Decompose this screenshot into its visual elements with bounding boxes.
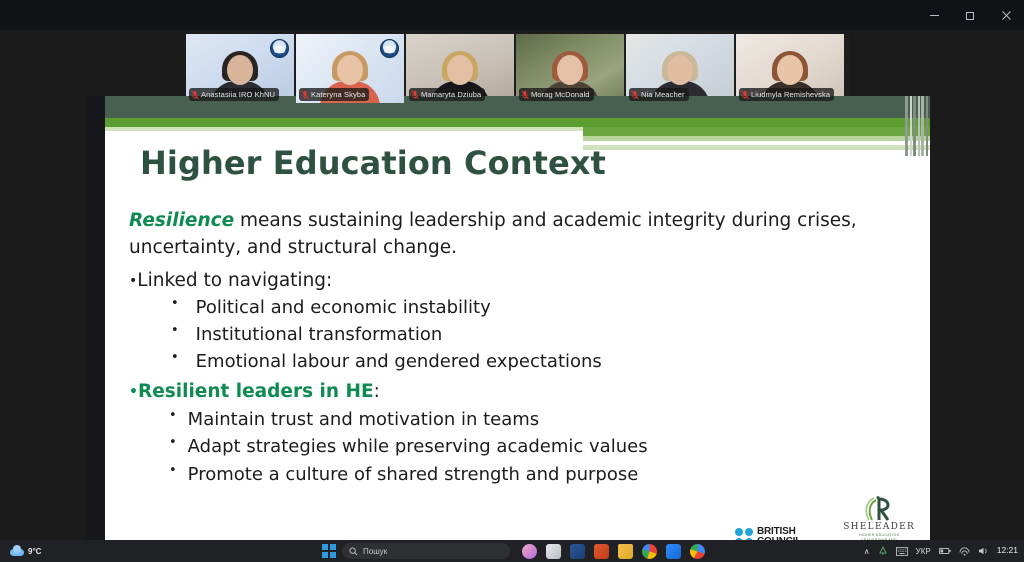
slide-deco-bar-5 [583,145,930,150]
bullet-dot-icon: • [129,384,138,400]
list-item: • Political and economic instability [171,294,889,321]
google-chrome-2-icon[interactable] [690,544,705,559]
weather-widget[interactable]: 9°C [0,546,200,556]
participant-name: Nia Meacher [641,90,685,99]
zoom-icon[interactable] [666,544,681,559]
slide-header-green-band [105,118,930,127]
mic-muted-icon [301,90,309,100]
participant-name: Liudmyla Remishevska [751,90,830,99]
taskbar-app-icons[interactable] [522,544,705,559]
cloud-icon [10,546,24,556]
search-placeholder: Пошук [363,547,387,556]
participant-name: Anastasiia IRO KhNU [201,90,275,99]
participant-tile[interactable]: Anastasiia IRO KhNU [186,34,294,103]
mic-muted-icon [631,90,639,100]
paint-3d-icon[interactable] [522,544,537,559]
mic-muted-icon [191,90,199,100]
keyword-resilience: Resilience [129,210,234,231]
battery-icon[interactable] [939,546,951,556]
search-icon [349,547,358,556]
onedrive-icon[interactable] [878,546,888,557]
list-item-label: Emotional labour and gendered expectatio… [196,348,602,375]
lead-paragraph: Resilience means sustaining leadership a… [129,208,889,262]
close-icon[interactable] [988,1,1024,29]
list-item: • Promote a culture of shared strength a… [169,461,889,488]
sheleader-subtitle: HIGHER EDUCATION LEADERSHIP AND RESILIEN… [835,533,923,540]
start-button-icon[interactable] [322,544,336,558]
participant-name: Mamaryta Dziuba [421,90,481,99]
list-item-label: Political and economic instability [196,294,491,321]
list-item: • Emotional labour and gendered expectat… [171,348,889,375]
taskbar-center: Пошук [322,543,705,559]
participant-tile[interactable]: Kateryna Skyba [296,34,404,103]
participant-tile[interactable]: Nia Meacher [626,34,734,103]
participant-name-bar: Kateryna Skyba [299,88,369,101]
sub-bullet-dot-icon: • [169,406,177,433]
list-item: • Institutional transformation [171,321,889,348]
file-explorer-icon[interactable] [546,544,561,559]
slide-body: Resilience means sustaining leadership a… [129,208,889,488]
participant-name-bar: Anastasiia IRO KhNU [189,88,279,101]
clock-time: 12:21 [997,546,1018,556]
university-emblem-icon [380,39,399,58]
shared-screen-area: Higher Education Context Resilience mean… [86,96,930,540]
language-indicator[interactable]: УКР [916,547,931,556]
group-two-heading: •Resilient leaders in HE: [129,378,889,406]
microsoft-word-icon[interactable] [570,544,585,559]
participant-filmstrip[interactable]: Anastasiia IRO KhNUKateryna SkybaMamaryt… [186,34,849,103]
university-emblem-icon [270,39,289,58]
mic-muted-icon [741,90,749,100]
group-two: •Resilient leaders in HE: • Maintain tru… [129,378,889,488]
windows-taskbar: 9°C Пошук ∧ УКР [0,540,1024,562]
british-council-logo: BRITISH COUNCIL [735,527,801,540]
search-input[interactable]: Пошук [342,543,510,559]
participant-face [447,55,473,85]
list-item-label: Institutional transformation [196,321,443,348]
mic-muted-icon [411,90,419,100]
sheleader-wordmark: SHELEADER [835,522,923,532]
slide-logos: BRITISH COUNCIL [735,496,923,540]
presentation-slide: Higher Education Context Resilience mean… [105,96,930,540]
list-item-label: Adapt strategies while preserving academ… [188,433,648,460]
group-one-heading: •Linked to navigating: [129,267,889,295]
participant-tile[interactable]: Liudmyla Remishevska [736,34,844,103]
system-tray[interactable]: ∧ УКР 12:21 [864,546,1018,557]
british-council-wordmark: BRITISH COUNCIL [757,527,801,540]
clock[interactable]: 12:21 [997,546,1018,556]
sub-bullet-dot-icon: • [171,348,179,375]
sub-bullet-dot-icon: • [169,461,177,488]
participant-name-bar: Mamaryta Dziuba [409,88,485,101]
lead-rest: means sustaining leadership and academic… [129,210,857,258]
sheleader-logo: SHELEADER HIGHER EDUCATION LEADERSHIP AN… [835,496,923,540]
list-item-label: Promote a culture of shared strength and… [188,461,639,488]
participant-tile[interactable]: Mamaryta Dziuba [406,34,514,103]
network-icon[interactable] [959,546,970,556]
volume-icon[interactable] [978,546,989,556]
participant-name: Morag McDonald [531,90,590,99]
participant-face [227,55,253,85]
weather-temperature: 9°C [28,547,41,556]
sub-bullet-dot-icon: • [169,433,177,460]
keyboard-icon[interactable] [896,547,908,556]
folder-icon[interactable] [618,544,633,559]
participant-name-bar: Liudmyla Remishevska [739,88,834,101]
slide-edge-stripes [904,96,930,156]
minimize-icon[interactable] [916,1,952,29]
window-title-bar [0,0,1024,30]
mic-muted-icon [521,90,529,100]
participant-tile[interactable]: Morag McDonald [516,34,624,103]
zoom-meeting-window: Anastasiia IRO KhNUKateryna SkybaMamaryt… [0,30,1024,540]
participant-name-bar: Nia Meacher [629,88,689,101]
list-item: • Maintain trust and motivation in teams [169,406,889,433]
participant-name-bar: Morag McDonald [519,88,594,101]
participant-face [777,55,803,85]
list-item-label: Maintain trust and motivation in teams [188,406,540,433]
page-title: Higher Education Context [140,144,606,182]
participant-face [337,55,363,85]
sub-bullet-dot-icon: • [171,294,179,321]
microsoft-powerpoint-icon[interactable] [594,544,609,559]
group-one: •Linked to navigating: • Political and e… [129,267,889,376]
google-chrome-icon[interactable] [642,544,657,559]
chevron-up-icon[interactable]: ∧ [864,547,870,556]
restore-icon[interactable] [952,1,988,29]
participant-name: Kateryna Skyba [311,90,365,99]
keyword-resilient-leaders: Resilient leaders in HE [138,381,374,402]
sub-bullet-dot-icon: • [171,321,179,348]
list-item: • Adapt strategies while preserving acad… [169,433,889,460]
participant-face [557,55,583,85]
sheleader-mark-icon [835,496,923,522]
participant-face [667,55,693,85]
group-one-heading-text: Linked to navigating: [137,270,332,291]
british-council-dots-icon [735,528,753,540]
group-two-heading-tail: : [374,381,380,402]
slide-deco-bar-2 [583,127,930,136]
